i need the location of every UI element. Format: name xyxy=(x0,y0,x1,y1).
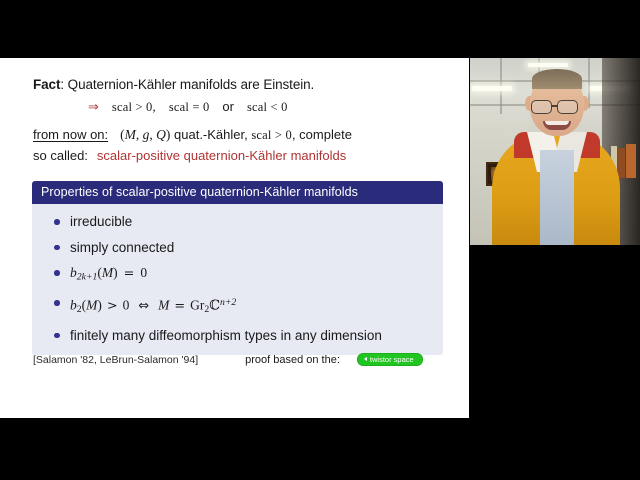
from-now-on-line: from now on:(M, g, Q) quat.-Kähler, scal… xyxy=(33,127,352,143)
arg-M: M xyxy=(86,298,97,313)
fact-line: Fact: Quaternion-Kähler manifolds are Ei… xyxy=(33,77,314,92)
slide-footer: [Salamon '82, LeBrun-Salamon '94] proof … xyxy=(33,353,453,366)
bullet-icon xyxy=(54,245,60,251)
implication-or: or xyxy=(222,99,234,114)
complete-text: , complete xyxy=(292,127,352,142)
bullet-icon xyxy=(54,270,60,276)
betti-symbol: b xyxy=(70,265,77,280)
symbol-M: M xyxy=(125,127,136,142)
bullet-icon xyxy=(54,219,60,225)
presenter-eyeglass-lens xyxy=(531,100,552,114)
list-item: simply connected xyxy=(32,240,443,255)
slide-surface: Fact: Quaternion-Kähler manifolds are Ei… xyxy=(0,58,469,418)
presenter-eyeglass-lens xyxy=(557,100,578,114)
relation-greater: > xyxy=(107,299,118,314)
fact-statement: Quaternion-Kähler manifolds are Einstein… xyxy=(64,77,314,92)
triple-comma-1: , xyxy=(136,127,143,142)
presenter-teeth xyxy=(545,121,569,125)
list-item: finitely many diffeomorphism types in an… xyxy=(32,328,443,343)
properties-list: irreducible simply connected b2k+1(M)=0 … xyxy=(32,214,443,343)
scal-condition: scal > 0 xyxy=(251,128,292,142)
rhs-zero: 0 xyxy=(123,298,130,313)
quat-kahler-text: quat.-Kähler, xyxy=(170,127,251,142)
properties-block-title: Properties of scalar-positive quaternion… xyxy=(32,181,443,204)
grassmannian-symbol: Gr xyxy=(190,298,204,313)
so-called-label: so called: xyxy=(33,148,88,163)
complex-field-exponent: n+2 xyxy=(220,297,236,308)
betti-subscript: 2k+1 xyxy=(77,272,98,283)
fact-keyword: Fact xyxy=(33,77,60,92)
arg-close: ) xyxy=(113,265,118,280)
bullet-icon xyxy=(54,333,60,339)
rhs-zero: 0 xyxy=(140,265,147,280)
webcam-scene xyxy=(470,58,640,245)
list-item-label: simply connected xyxy=(70,240,174,255)
citation-text: [Salamon '82, LeBrun-Salamon '94] xyxy=(33,354,198,366)
presenter-eyeglass-bridge xyxy=(552,105,558,107)
scal-positive: scal > 0, xyxy=(112,100,156,114)
complex-field-symbol: ℂ xyxy=(209,298,220,314)
implication-line: ⇒scal > 0,scal = 0orscal < 0 xyxy=(88,99,288,115)
scal-negative: scal < 0 xyxy=(247,100,288,114)
list-item-label: irreducible xyxy=(70,214,132,229)
relation-equals: = xyxy=(124,266,135,281)
arg-M: M xyxy=(102,265,113,280)
presenter-webcam-feed[interactable] xyxy=(470,58,640,245)
list-item: irreducible xyxy=(32,214,443,229)
list-item: b2(M)>0⇔M=Gr2ℂn+2 xyxy=(32,295,443,317)
list-item-label: finitely many diffeomorphism types in an… xyxy=(70,328,382,343)
properties-block-body: irreducible simply connected b2k+1(M)=0 … xyxy=(32,204,443,355)
relation-equals: = xyxy=(174,299,185,314)
twistor-space-badge-label: twistor space xyxy=(370,356,414,364)
properties-block: Properties of scalar-positive quaternion… xyxy=(32,181,443,355)
badge-left-triangle-icon xyxy=(364,357,367,361)
so-called-term: scalar-positive quaternion-Kähler manifo… xyxy=(97,148,346,163)
twistor-space-badge[interactable]: twistor space xyxy=(357,353,423,366)
ceiling-light xyxy=(528,63,568,67)
iff-arrow-icon: ⇔ xyxy=(138,299,149,314)
from-now-on-label: from now on: xyxy=(33,127,108,142)
presenter-shirt xyxy=(540,150,574,245)
shelf-book xyxy=(626,144,636,178)
arg-close: ) xyxy=(97,298,102,313)
shelf-book xyxy=(618,148,625,178)
list-item: b2k+1(M)=0 xyxy=(32,265,443,285)
presenter-hair xyxy=(532,69,582,89)
implies-arrow-icon: ⇒ xyxy=(88,100,99,115)
letterbox-fill xyxy=(470,245,640,480)
scal-zero: scal = 0 xyxy=(169,100,210,114)
ceiling-light xyxy=(472,86,512,91)
bullet-icon xyxy=(54,300,60,306)
betti2-symbol: b xyxy=(70,298,77,313)
so-called-line: so called:scalar-positive quaternion-Käh… xyxy=(33,148,346,163)
symbol-Q: Q xyxy=(156,127,166,142)
lhs-M: M xyxy=(158,298,169,313)
proof-basis-text: proof based on the: xyxy=(245,354,340,366)
presentation-stage: Fact: Quaternion-Kähler manifolds are Ei… xyxy=(0,0,640,480)
